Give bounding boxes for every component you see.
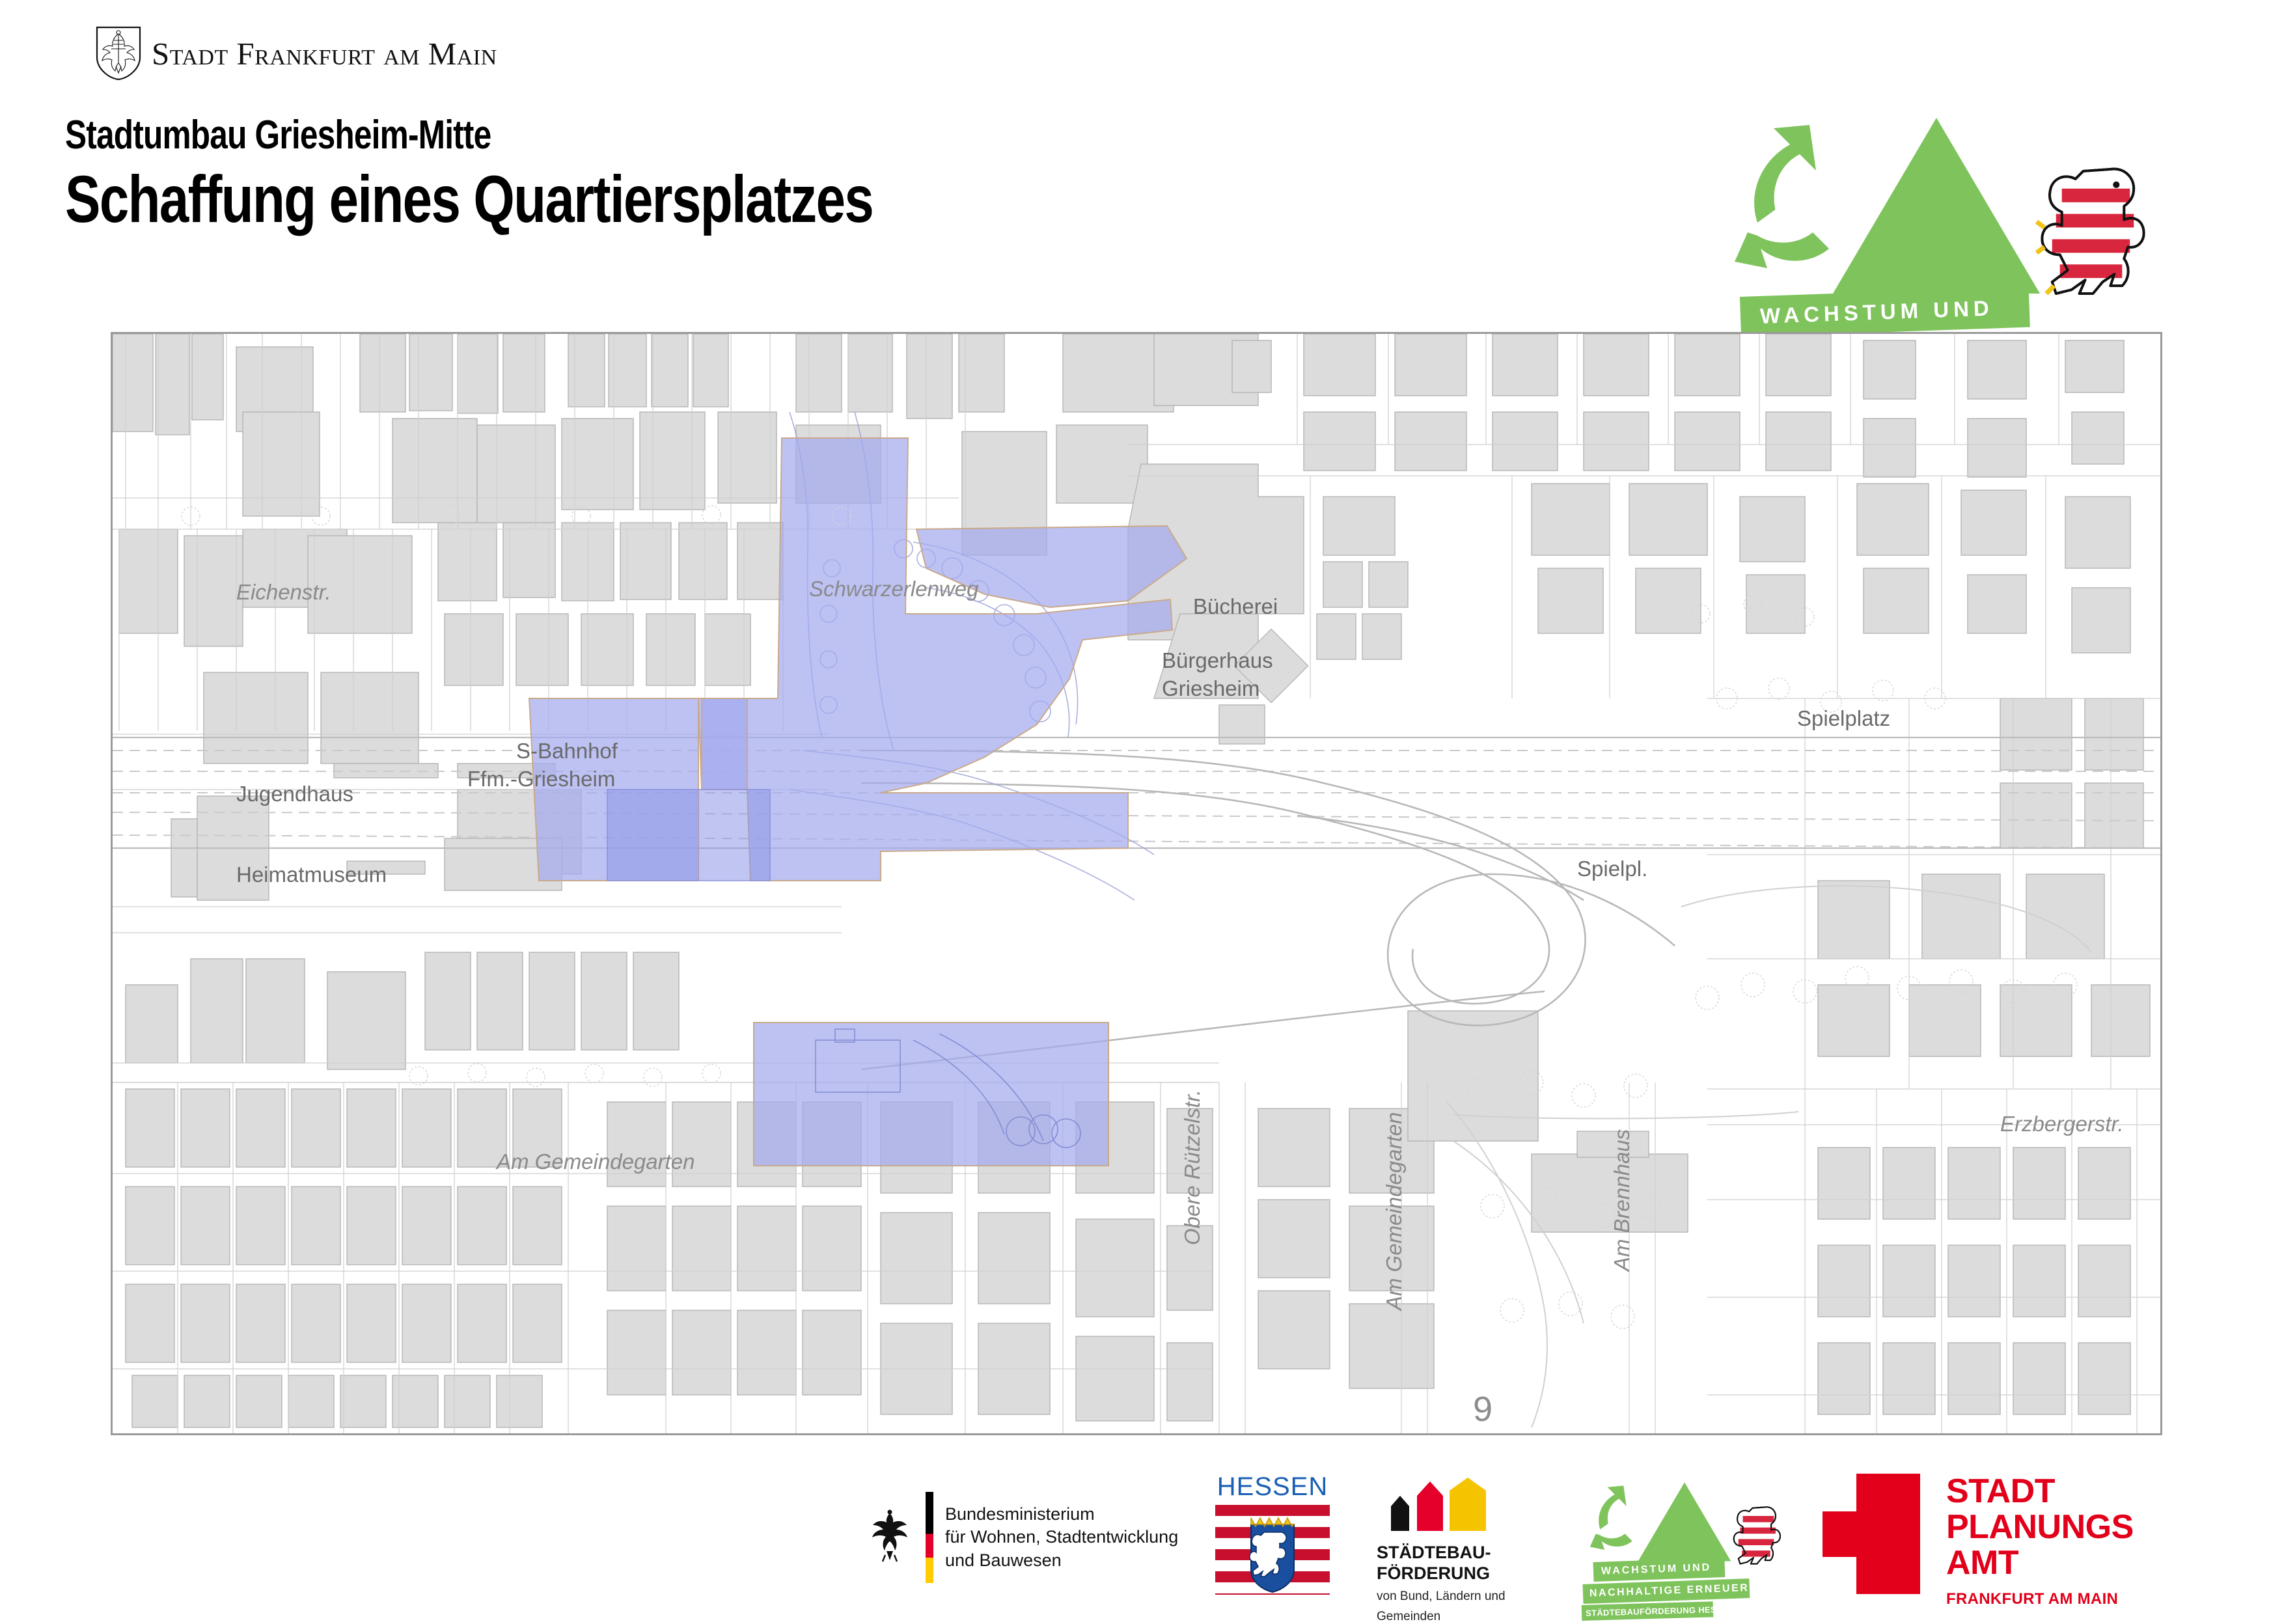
logo-band-wachstum: WACHSTUM UND (1740, 287, 2030, 337)
staedtebau-sub1: von Bund, Ländern und (1377, 1589, 1572, 1604)
bundesministerium-logo: Bundesministerium für Wohnen, Stadtentwi… (866, 1479, 1204, 1596)
small-logo-band-wachstum: WACHSTUM UND (1593, 1558, 1725, 1582)
city-logo-text: Stadt Frankfurt am Main (152, 35, 497, 72)
svg-text:9: 9 (1473, 1390, 1493, 1429)
tree-icon (1829, 114, 2044, 309)
hessen-wordmark: HESSEN (1207, 1472, 1338, 1502)
map-vector-layer: 9 (113, 334, 2160, 1433)
north-indicator: 9 (1473, 1390, 1493, 1429)
city-logo: Stadt Frankfurt am Main (94, 27, 524, 79)
three-houses-icon (1377, 1478, 1497, 1531)
page-subtitle: Stadtumbau Griesheim-Mitte (65, 114, 873, 156)
stadtplanungsamt-wordmark: STADT PLANUNGS AMT FRANKFURT AM MAIN (1946, 1474, 2134, 1608)
bmwsb-line2: für Wohnen, Stadtentwicklung (945, 1526, 1178, 1549)
stadtplanungsamt-logo: STADT PLANUNGS AMT FRANKFURT AM MAIN (1823, 1474, 2187, 1604)
hessen-lion-icon-small (1729, 1504, 1783, 1567)
staedtebau-sub2: Gemeinden (1377, 1609, 1572, 1624)
hessen-lion-icon (2031, 161, 2151, 301)
spa-line1: STADT (1946, 1474, 2134, 1509)
german-flag-bar-icon (926, 1492, 933, 1583)
page-title: Schaffung eines Quartiersplatzes (65, 164, 873, 234)
cadastral-map[interactable]: 9 Eichenstr. Schwarzerlenweg Erzbergerst… (111, 332, 2162, 1435)
spa-line3: AMT (1946, 1545, 2134, 1581)
page-header: Stadt Frankfurt am Main Stadtumbau Gries… (0, 0, 2284, 312)
staedtebaufoerderung-logo: STÄDTEBAU- FÖRDERUNG von Bund, Ländern u… (1377, 1478, 1572, 1601)
bmwsb-line3: und Bauwesen (945, 1549, 1178, 1573)
bmwsb-text: Bundesministerium für Wohnen, Stadtentwi… (945, 1503, 1178, 1573)
small-logo-band-foerderung: STÄDTEBAUFÖRDERUNG HESSEN (1582, 1601, 1714, 1621)
hessen-state-logo: HESSEN (1207, 1472, 1338, 1603)
bmwsb-line1: Bundesministerium (945, 1503, 1178, 1526)
spa-line2: PLANUNGS (1946, 1509, 2134, 1545)
wachstum-small-logo: WACHSTUM UND NACHHALTIGE ERNEUERUNG STÄD… (1582, 1480, 1790, 1604)
staedtebau-line1: STÄDTEBAU- (1377, 1542, 1572, 1563)
staedtebau-line2: FÖRDERUNG (1377, 1563, 1572, 1584)
tree-icon-small (1636, 1480, 1733, 1569)
frankfurt-eagle-crest-icon (94, 26, 143, 81)
stadtplanungsamt-mark-icon (1823, 1474, 1920, 1594)
footer-logo-strip: Bundesministerium für Wohnen, Stadtentwi… (0, 1465, 2284, 1614)
title-block: Stadtumbau Griesheim-Mitte Schaffung ein… (65, 114, 1075, 234)
hessen-flag-icon (1215, 1505, 1330, 1595)
spa-subline: FRANKFURT AM MAIN (1946, 1590, 2134, 1608)
bundesadler-icon (866, 1509, 914, 1565)
small-logo-band-nachhaltige: NACHHALTIGE ERNEUERUNG (1582, 1578, 1750, 1604)
